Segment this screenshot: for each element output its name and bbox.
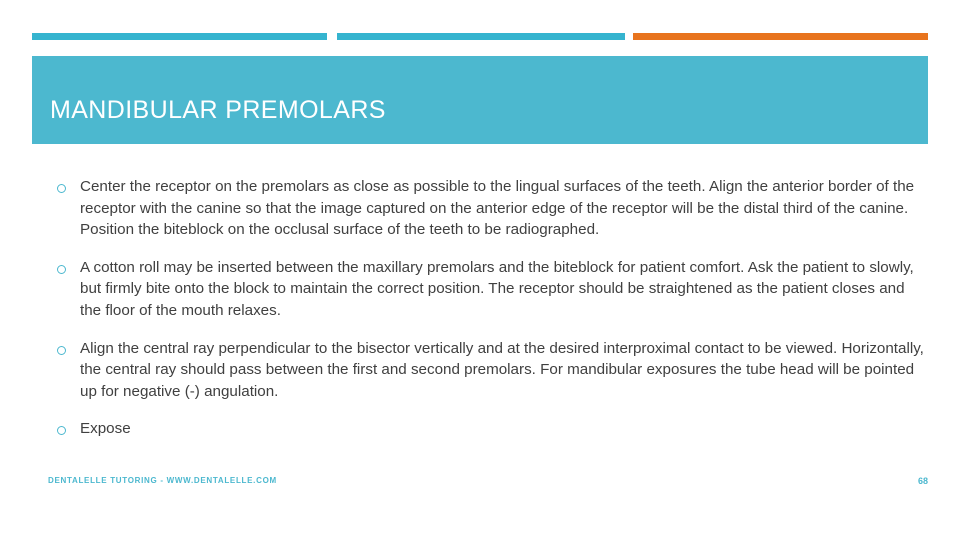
footer-attribution: DENTALELLE TUTORING - WWW.DENTALELLE.COM — [48, 476, 277, 485]
bullet-circle-icon — [57, 426, 66, 435]
list-item: Expose — [48, 418, 928, 440]
bullet-circle-icon — [57, 346, 66, 355]
decorative-top-bars — [0, 33, 960, 40]
page-title: MANDIBULAR PREMOLARS — [50, 96, 386, 125]
bar-accent-left — [32, 33, 327, 40]
list-item-text: Align the central ray perpendicular to t… — [80, 338, 928, 403]
bar-orange-right — [633, 33, 928, 40]
list-item-text: Center the receptor on the premolars as … — [80, 176, 928, 241]
list-item-text: A cotton roll may be inserted between th… — [80, 257, 928, 322]
list-item-text: Expose — [80, 418, 928, 440]
bar-accent-middle — [337, 33, 625, 40]
bullet-circle-icon — [57, 184, 66, 193]
slide-number: 68 — [918, 476, 928, 486]
slide: MANDIBULAR PREMOLARS Center the receptor… — [0, 0, 960, 540]
list-item: A cotton roll may be inserted between th… — [48, 257, 928, 322]
bullet-circle-icon — [57, 265, 66, 274]
title-band: MANDIBULAR PREMOLARS — [32, 56, 928, 144]
list-item: Center the receptor on the premolars as … — [48, 176, 928, 241]
list-item: Align the central ray perpendicular to t… — [48, 338, 928, 403]
bullet-list: Center the receptor on the premolars as … — [48, 176, 928, 456]
